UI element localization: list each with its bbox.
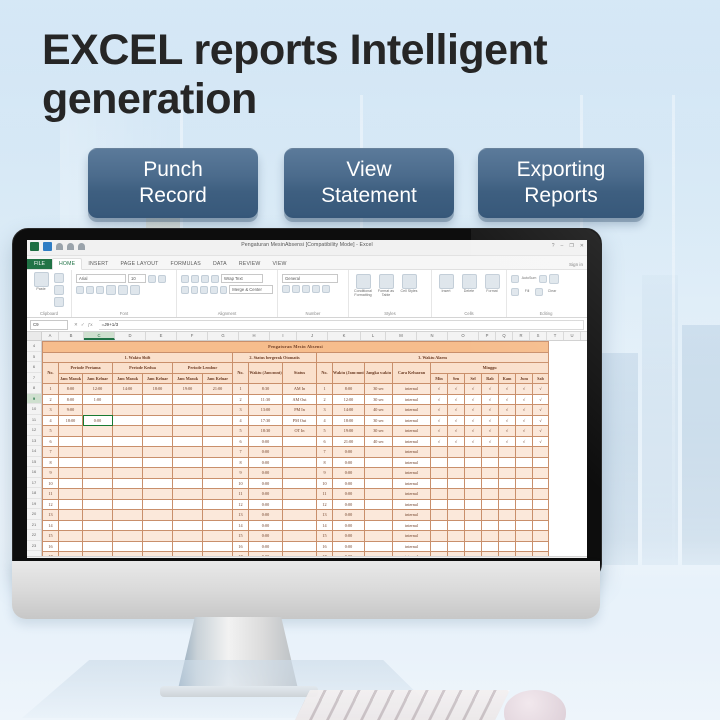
auto-waktu[interactable]: 0:00 [249, 499, 283, 510]
shift-group-0[interactable]: Periode Pertama [59, 363, 113, 374]
alarm-day-check-4[interactable] [499, 552, 516, 557]
alarm-waktu[interactable]: 0:00 [333, 499, 365, 510]
row-header-16[interactable]: 16 [27, 467, 41, 478]
alarm-day-check-1[interactable] [448, 478, 465, 489]
auto-status[interactable] [283, 499, 317, 510]
shift-cell-0[interactable] [59, 478, 83, 489]
alarm-cara[interactable]: internal [393, 552, 431, 557]
badge-punch-record[interactable]: Punch Record [88, 148, 258, 218]
shift-cell-0[interactable] [59, 489, 83, 500]
column-header-P[interactable]: P [479, 332, 496, 340]
alarm-jangka[interactable] [365, 552, 393, 557]
alarm-day-check-2[interactable] [465, 552, 482, 557]
column-header-row[interactable]: A B C D E F G H I J K L M N O P Q [27, 332, 587, 341]
row-header-6[interactable]: 6 [27, 362, 41, 373]
auto-status[interactable] [283, 468, 317, 479]
auto-row-no[interactable]: 5 [233, 426, 249, 437]
alarm-day-check-3[interactable] [482, 520, 499, 531]
auto-row-no[interactable]: 10 [233, 478, 249, 489]
shift-cell-2[interactable] [113, 394, 143, 405]
shift-cell-5[interactable] [203, 436, 233, 447]
alarm-day-check-0[interactable] [431, 541, 448, 552]
row-header-5[interactable]: 5 [27, 352, 41, 363]
formula-input[interactable]: =J9+1/3 [99, 320, 584, 330]
shift-cell-3[interactable] [143, 499, 173, 510]
alarm-waktu[interactable]: 0:00 [333, 552, 365, 557]
worksheet-title-row[interactable]: Pengaturan Mesin Absensi [43, 342, 549, 353]
shift-cell-4[interactable] [173, 510, 203, 521]
shift-cell-2[interactable] [113, 541, 143, 552]
shift-cell-4[interactable] [173, 541, 203, 552]
alarm-day-check-2[interactable]: √ [465, 394, 482, 405]
alarm-jangka[interactable]: 40 sec [365, 436, 393, 447]
row-header-18[interactable]: 18 [27, 488, 41, 499]
shift-cell-1[interactable]: 12:00 [83, 384, 113, 395]
column-header-A[interactable]: A [42, 332, 59, 340]
alarm-day-check-0[interactable] [431, 499, 448, 510]
column-header-S[interactable]: S [530, 332, 547, 340]
auto-waktu[interactable]: 0:00 [249, 489, 283, 500]
shift-cell-2[interactable] [113, 447, 143, 458]
shift-group-1[interactable]: Periode Kedua [113, 363, 173, 374]
shift-cell-1[interactable] [83, 531, 113, 542]
worksheet-grid[interactable]: 4567891011121314151617181920212223 [27, 341, 587, 556]
tab-data[interactable]: DATA [207, 259, 233, 270]
copy-icon[interactable] [54, 285, 64, 295]
alarm-day-check-4[interactable]: √ [499, 436, 516, 447]
alarm-day-check-3[interactable] [482, 489, 499, 500]
alarm-cara[interactable]: internal [393, 510, 431, 521]
table-row[interactable]: 28:001:00211:30AM Out212:0030 secinterna… [43, 394, 549, 405]
shift-cell-5[interactable] [203, 541, 233, 552]
alarm-row-no[interactable]: 8 [317, 457, 333, 468]
name-box[interactable]: C9 [30, 320, 68, 330]
alarm-day-check-4[interactable] [499, 510, 516, 521]
shift-cell-2[interactable] [113, 552, 143, 557]
shift-cell-2[interactable] [113, 405, 143, 416]
shift-cell-3[interactable] [143, 541, 173, 552]
shift-cell-2[interactable] [113, 531, 143, 542]
alarm-day-check-1[interactable] [448, 499, 465, 510]
alarm-day-check-6[interactable] [533, 510, 549, 521]
shift-row-no[interactable]: 7 [43, 447, 59, 458]
alarm-day-check-1[interactable]: √ [448, 415, 465, 426]
auto-waktu[interactable]: 0:00 [249, 552, 283, 557]
row-header-4[interactable]: 4 [27, 341, 41, 352]
alarm-day-check-4[interactable] [499, 499, 516, 510]
sort-filter-icon[interactable] [539, 275, 547, 283]
auto-status[interactable] [283, 541, 317, 552]
row-header-21[interactable]: 21 [27, 520, 41, 531]
auto-status[interactable] [283, 520, 317, 531]
alarm-day-check-0[interactable]: √ [431, 384, 448, 395]
format-cells-button[interactable]: Format [482, 274, 502, 294]
minimize-icon[interactable]: – [561, 243, 564, 249]
alarm-header-0[interactable]: No. [317, 363, 333, 384]
alarm-day-check-0[interactable]: √ [431, 415, 448, 426]
ribbon[interactable]: Paste Clipboard [27, 270, 587, 318]
font-name-box[interactable]: Arial [76, 274, 126, 283]
alarm-day-check-0[interactable] [431, 478, 448, 489]
shift-cell-1[interactable] [83, 552, 113, 557]
alarm-cara[interactable]: internal [393, 531, 431, 542]
shift-cell-4[interactable]: 19:00 [173, 384, 203, 395]
auto-row-no[interactable]: 13 [233, 510, 249, 521]
shift-cell-0[interactable]: 8:00 [59, 384, 83, 395]
orientation-icon[interactable] [211, 275, 219, 283]
row-header-12[interactable]: 12 [27, 425, 41, 436]
alarm-day-check-4[interactable] [499, 468, 516, 479]
alarm-day-check-5[interactable]: √ [516, 405, 533, 416]
shift-cell-0[interactable] [59, 541, 83, 552]
shift-cell-0[interactable] [59, 531, 83, 542]
merge-center-button[interactable]: Merge & Center [229, 285, 273, 294]
alarm-waktu[interactable]: 0:00 [333, 520, 365, 531]
alarm-day-check-4[interactable] [499, 520, 516, 531]
table-row[interactable]: 12120:00120:00internal [43, 499, 549, 510]
row-header-8[interactable]: 8 [27, 383, 41, 394]
alarm-day-check-6[interactable] [533, 520, 549, 531]
shift-cell-1[interactable] [83, 478, 113, 489]
shift-cell-1[interactable] [83, 426, 113, 437]
auto-row-no[interactable]: 9 [233, 468, 249, 479]
alarm-day-check-5[interactable]: √ [516, 415, 533, 426]
alarm-day-check-3[interactable] [482, 531, 499, 542]
fill-icon[interactable] [511, 288, 519, 296]
table-row[interactable]: 14140:00140:00internal [43, 520, 549, 531]
alarm-day-check-1[interactable] [448, 541, 465, 552]
alarm-jangka[interactable] [365, 447, 393, 458]
alarm-day-check-0[interactable]: √ [431, 426, 448, 437]
shift-cell-4[interactable] [173, 478, 203, 489]
shift-cell-2[interactable] [113, 478, 143, 489]
shift-cell-3[interactable] [143, 468, 173, 479]
percent-icon[interactable] [292, 285, 300, 293]
alarm-day-check-6[interactable] [533, 489, 549, 500]
shift-cell-2[interactable] [113, 415, 143, 426]
alarm-day-check-5[interactable]: √ [516, 394, 533, 405]
shift-cell-1[interactable] [83, 436, 113, 447]
shift-cell-3[interactable] [143, 394, 173, 405]
alarm-day-check-6[interactable] [533, 468, 549, 479]
tab-home[interactable]: HOME [52, 258, 82, 271]
alarm-day-check-1[interactable] [448, 489, 465, 500]
alarm-day-5[interactable]: Jum [516, 373, 533, 384]
shift-row-no[interactable]: 14 [43, 520, 59, 531]
alarm-day-check-0[interactable] [431, 457, 448, 468]
alarm-day-check-6[interactable] [533, 499, 549, 510]
decrease-decimal-icon[interactable] [322, 285, 330, 293]
alarm-jangka[interactable] [365, 531, 393, 542]
auto-waktu[interactable]: 0:00 [249, 520, 283, 531]
column-header-B[interactable]: B [59, 332, 84, 340]
format-as-table-button[interactable]: Format as Table [376, 274, 396, 298]
alarm-row-no[interactable]: 11 [317, 489, 333, 500]
shift-cell-0[interactable] [59, 520, 83, 531]
section-waktu-alarm[interactable]: 3. Waktu Alarm [317, 352, 549, 363]
auto-status[interactable] [283, 531, 317, 542]
shift-cell-4[interactable] [173, 394, 203, 405]
auto-row-no[interactable]: 8 [233, 457, 249, 468]
worksheet-title[interactable]: Pengaturan Mesin Absensi [43, 342, 549, 353]
row-header-10[interactable]: 10 [27, 404, 41, 415]
shift-row-no[interactable]: 1 [43, 384, 59, 395]
shift-cell-0[interactable] [59, 552, 83, 557]
column-header-J[interactable]: J [297, 332, 328, 340]
shift-cell-1[interactable] [83, 499, 113, 510]
shift-cell-1[interactable] [83, 520, 113, 531]
table-row[interactable]: 660:00621:0040 secinternal√√√√√√√ [43, 436, 549, 447]
auto-status[interactable]: OT In [283, 426, 317, 437]
italic-icon[interactable] [86, 286, 94, 294]
alarm-day-check-2[interactable] [465, 478, 482, 489]
shift-cell-2[interactable] [113, 520, 143, 531]
shift-cell-3[interactable]: 18:00 [143, 384, 173, 395]
table-row[interactable]: 880:0080:00internal [43, 457, 549, 468]
help-icon[interactable]: ? [552, 243, 555, 249]
shift-cell-3[interactable] [143, 415, 173, 426]
table-row[interactable]: 15150:00150:00internal [43, 531, 549, 542]
auto-waktu[interactable]: 17:30 [249, 415, 283, 426]
alarm-day-check-1[interactable]: √ [448, 394, 465, 405]
tab-formulas[interactable]: FORMULAS [165, 259, 207, 270]
alarm-day-check-2[interactable] [465, 531, 482, 542]
alarm-day-1[interactable]: Sen [448, 373, 465, 384]
alarm-day-check-4[interactable]: √ [499, 426, 516, 437]
auto-status[interactable] [283, 489, 317, 500]
shift-sub-2[interactable]: Jam Masuk [113, 373, 143, 384]
alarm-row-no[interactable]: 4 [317, 415, 333, 426]
alarm-day-check-3[interactable] [482, 499, 499, 510]
alarm-day-check-5[interactable] [516, 552, 533, 557]
alarm-cara[interactable]: internal [393, 415, 431, 426]
alarm-day-check-4[interactable]: √ [499, 405, 516, 416]
shift-row-no[interactable]: 11 [43, 489, 59, 500]
shift-row-no[interactable]: 12 [43, 499, 59, 510]
font-color-icon[interactable] [130, 285, 140, 295]
table-row[interactable]: 5518:30OT In519:0030 secinternal√√√√√√√ [43, 426, 549, 437]
shift-row-no[interactable]: 17 [43, 552, 59, 557]
auto-row-no[interactable]: 11 [233, 489, 249, 500]
alarm-day-check-1[interactable] [448, 552, 465, 557]
table-row[interactable]: 16160:00160:00internal [43, 541, 549, 552]
shift-cell-4[interactable] [173, 415, 203, 426]
alarm-jangka[interactable] [365, 541, 393, 552]
row-header-19[interactable]: 19 [27, 499, 41, 510]
alarm-day-check-0[interactable]: √ [431, 436, 448, 447]
auto-row-no[interactable]: 12 [233, 499, 249, 510]
align-bottom-icon[interactable] [201, 275, 209, 283]
shift-cell-3[interactable] [143, 552, 173, 557]
shift-row-no[interactable]: 4 [43, 415, 59, 426]
column-header-Q[interactable]: Q [496, 332, 513, 340]
alarm-day-4[interactable]: Kam [499, 373, 516, 384]
alarm-day-check-5[interactable] [516, 541, 533, 552]
fill-color-icon[interactable] [118, 285, 128, 295]
autosum-icon[interactable] [511, 275, 519, 283]
alarm-waktu[interactable]: 0:00 [333, 541, 365, 552]
underline-icon[interactable] [96, 286, 104, 294]
shift-cell-1[interactable] [83, 468, 113, 479]
alarm-day-check-3[interactable]: √ [482, 415, 499, 426]
alarm-day-check-1[interactable] [448, 510, 465, 521]
table-row[interactable]: 990:0090:00internal [43, 468, 549, 479]
alarm-jangka[interactable] [365, 468, 393, 479]
comma-style-icon[interactable] [302, 285, 310, 293]
shift-cell-5[interactable] [203, 405, 233, 416]
shift-cell-3[interactable] [143, 447, 173, 458]
alarm-cara[interactable]: internal [393, 499, 431, 510]
auto-status[interactable]: PM In [283, 405, 317, 416]
row-header-22[interactable]: 22 [27, 530, 41, 541]
alarm-row-no[interactable]: 15 [317, 531, 333, 542]
shift-group-2[interactable]: Periode Lembur [173, 363, 233, 374]
alarm-minggu-header[interactable]: Minggu [431, 363, 549, 374]
shift-cell-1[interactable]: 1:00 [83, 394, 113, 405]
decrease-font-size-icon[interactable] [158, 275, 166, 283]
auto-status[interactable]: AM In [283, 384, 317, 395]
auto-status[interactable] [283, 478, 317, 489]
tab-file[interactable]: FILE [27, 259, 52, 270]
alarm-day-check-6[interactable] [533, 531, 549, 542]
alarm-day-check-0[interactable] [431, 489, 448, 500]
alarm-day-check-0[interactable]: √ [431, 394, 448, 405]
alarm-row-no[interactable]: 7 [317, 447, 333, 458]
auto-waktu[interactable]: 0:00 [249, 436, 283, 447]
alarm-day-check-5[interactable]: √ [516, 384, 533, 395]
alarm-row-no[interactable]: 6 [317, 436, 333, 447]
alarm-day-0[interactable]: Min [431, 373, 448, 384]
alarm-cara[interactable]: internal [393, 384, 431, 395]
column-header-H[interactable]: H [239, 332, 270, 340]
alarm-day-check-4[interactable] [499, 541, 516, 552]
shift-cell-3[interactable] [143, 457, 173, 468]
alarm-day-check-4[interactable]: √ [499, 415, 516, 426]
decrease-indent-icon[interactable] [210, 286, 218, 294]
row-header-20[interactable]: 20 [27, 509, 41, 520]
increase-decimal-icon[interactable] [312, 285, 320, 293]
shift-row-no[interactable]: 9 [43, 468, 59, 479]
alarm-waktu[interactable]: 0:00 [333, 478, 365, 489]
alarm-jangka[interactable] [365, 499, 393, 510]
shift-cell-1[interactable]: 0:00 [83, 415, 113, 426]
select-all-corner[interactable] [27, 332, 42, 340]
shift-cell-2[interactable] [113, 426, 143, 437]
column-group-header-row[interactable]: No.Periode PertamaPeriode KeduaPeriode L… [43, 363, 549, 374]
shift-cell-1[interactable] [83, 447, 113, 458]
auto-waktu[interactable]: 0:00 [249, 531, 283, 542]
shift-cell-0[interactable] [59, 426, 83, 437]
row-header-17[interactable]: 17 [27, 478, 41, 489]
close-icon[interactable]: ✕ [580, 243, 584, 249]
shift-cell-5[interactable] [203, 468, 233, 479]
accept-formula-icon[interactable]: ✓ [81, 322, 85, 328]
tab-page-layout[interactable]: PAGE LAYOUT [114, 259, 164, 270]
section-header-row[interactable]: 1. Waktu Shift2. Status bergerak Otomati… [43, 352, 549, 363]
format-painter-icon[interactable] [54, 297, 64, 307]
alarm-row-no[interactable]: 16 [317, 541, 333, 552]
alarm-jangka[interactable]: 30 sec [365, 415, 393, 426]
shift-cell-5[interactable] [203, 447, 233, 458]
alarm-day-check-6[interactable]: √ [533, 426, 549, 437]
alarm-jangka[interactable] [365, 489, 393, 500]
table-row[interactable]: 770:0070:00internal [43, 447, 549, 458]
sign-in-link[interactable]: Sign in [569, 262, 583, 267]
shift-cell-0[interactable]: 9:00 [59, 405, 83, 416]
delete-cells-button[interactable]: Delete [459, 274, 479, 294]
alarm-day-check-6[interactable]: √ [533, 415, 549, 426]
alarm-day-check-2[interactable] [465, 510, 482, 521]
alarm-day-check-6[interactable]: √ [533, 384, 549, 395]
shift-cell-1[interactable] [83, 457, 113, 468]
shift-cell-0[interactable]: 8:00 [59, 394, 83, 405]
alarm-day-check-5[interactable] [516, 520, 533, 531]
auto-row-no[interactable]: 14 [233, 520, 249, 531]
column-header-C[interactable]: C [84, 332, 115, 340]
alarm-header-1[interactable]: Waktu (Jam:mnt) [333, 363, 365, 384]
alarm-day-check-5[interactable] [516, 489, 533, 500]
shift-cell-5[interactable] [203, 489, 233, 500]
shift-cell-5[interactable] [203, 520, 233, 531]
auto-status[interactable] [283, 457, 317, 468]
tab-view[interactable]: VIEW [267, 259, 293, 270]
alarm-day-check-0[interactable]: √ [431, 405, 448, 416]
column-header-G[interactable]: G [208, 332, 239, 340]
borders-icon[interactable] [106, 285, 116, 295]
shift-cell-1[interactable] [83, 510, 113, 521]
row-header-13[interactable]: 13 [27, 436, 41, 447]
shift-row-no[interactable]: 13 [43, 510, 59, 521]
cancel-formula-icon[interactable]: ✕ [74, 322, 78, 328]
auto-row-no[interactable]: 16 [233, 541, 249, 552]
alarm-day-check-2[interactable]: √ [465, 405, 482, 416]
alarm-day-check-3[interactable] [482, 541, 499, 552]
auto-status[interactable] [283, 447, 317, 458]
auto-row-no[interactable]: 1 [233, 384, 249, 395]
alarm-day-check-2[interactable] [465, 520, 482, 531]
alarm-cara[interactable]: internal [393, 478, 431, 489]
shift-cell-5[interactable] [203, 499, 233, 510]
alarm-day-check-1[interactable]: √ [448, 436, 465, 447]
alarm-waktu[interactable]: 0:00 [333, 457, 365, 468]
alarm-row-no[interactable]: 3 [317, 405, 333, 416]
shift-row-no[interactable]: 6 [43, 436, 59, 447]
align-center-icon[interactable] [191, 286, 199, 294]
currency-icon[interactable] [282, 285, 290, 293]
alarm-day-check-2[interactable] [465, 541, 482, 552]
shift-cell-1[interactable] [83, 489, 113, 500]
shift-row-no[interactable]: 10 [43, 478, 59, 489]
alarm-day-check-6[interactable]: √ [533, 405, 549, 416]
row-header-9[interactable]: 9 [27, 394, 41, 405]
alarm-row-no[interactable]: 12 [317, 499, 333, 510]
shift-cell-3[interactable] [143, 436, 173, 447]
shift-cell-2[interactable]: 14:00 [113, 384, 143, 395]
alarm-day-check-1[interactable] [448, 447, 465, 458]
alarm-waktu[interactable]: 19:00 [333, 426, 365, 437]
shift-sub-1[interactable]: Jam Keluar [83, 373, 113, 384]
alarm-day-check-2[interactable]: √ [465, 415, 482, 426]
alarm-waktu[interactable]: 14:00 [333, 405, 365, 416]
alarm-day-check-0[interactable] [431, 520, 448, 531]
shift-cell-2[interactable] [113, 489, 143, 500]
auto-waktu[interactable]: 18:30 [249, 426, 283, 437]
shift-row-no[interactable]: 8 [43, 457, 59, 468]
align-left-icon[interactable] [181, 286, 189, 294]
alarm-day-check-6[interactable] [533, 447, 549, 458]
alarm-waktu[interactable]: 0:00 [333, 468, 365, 479]
alarm-row-no[interactable]: 5 [317, 426, 333, 437]
